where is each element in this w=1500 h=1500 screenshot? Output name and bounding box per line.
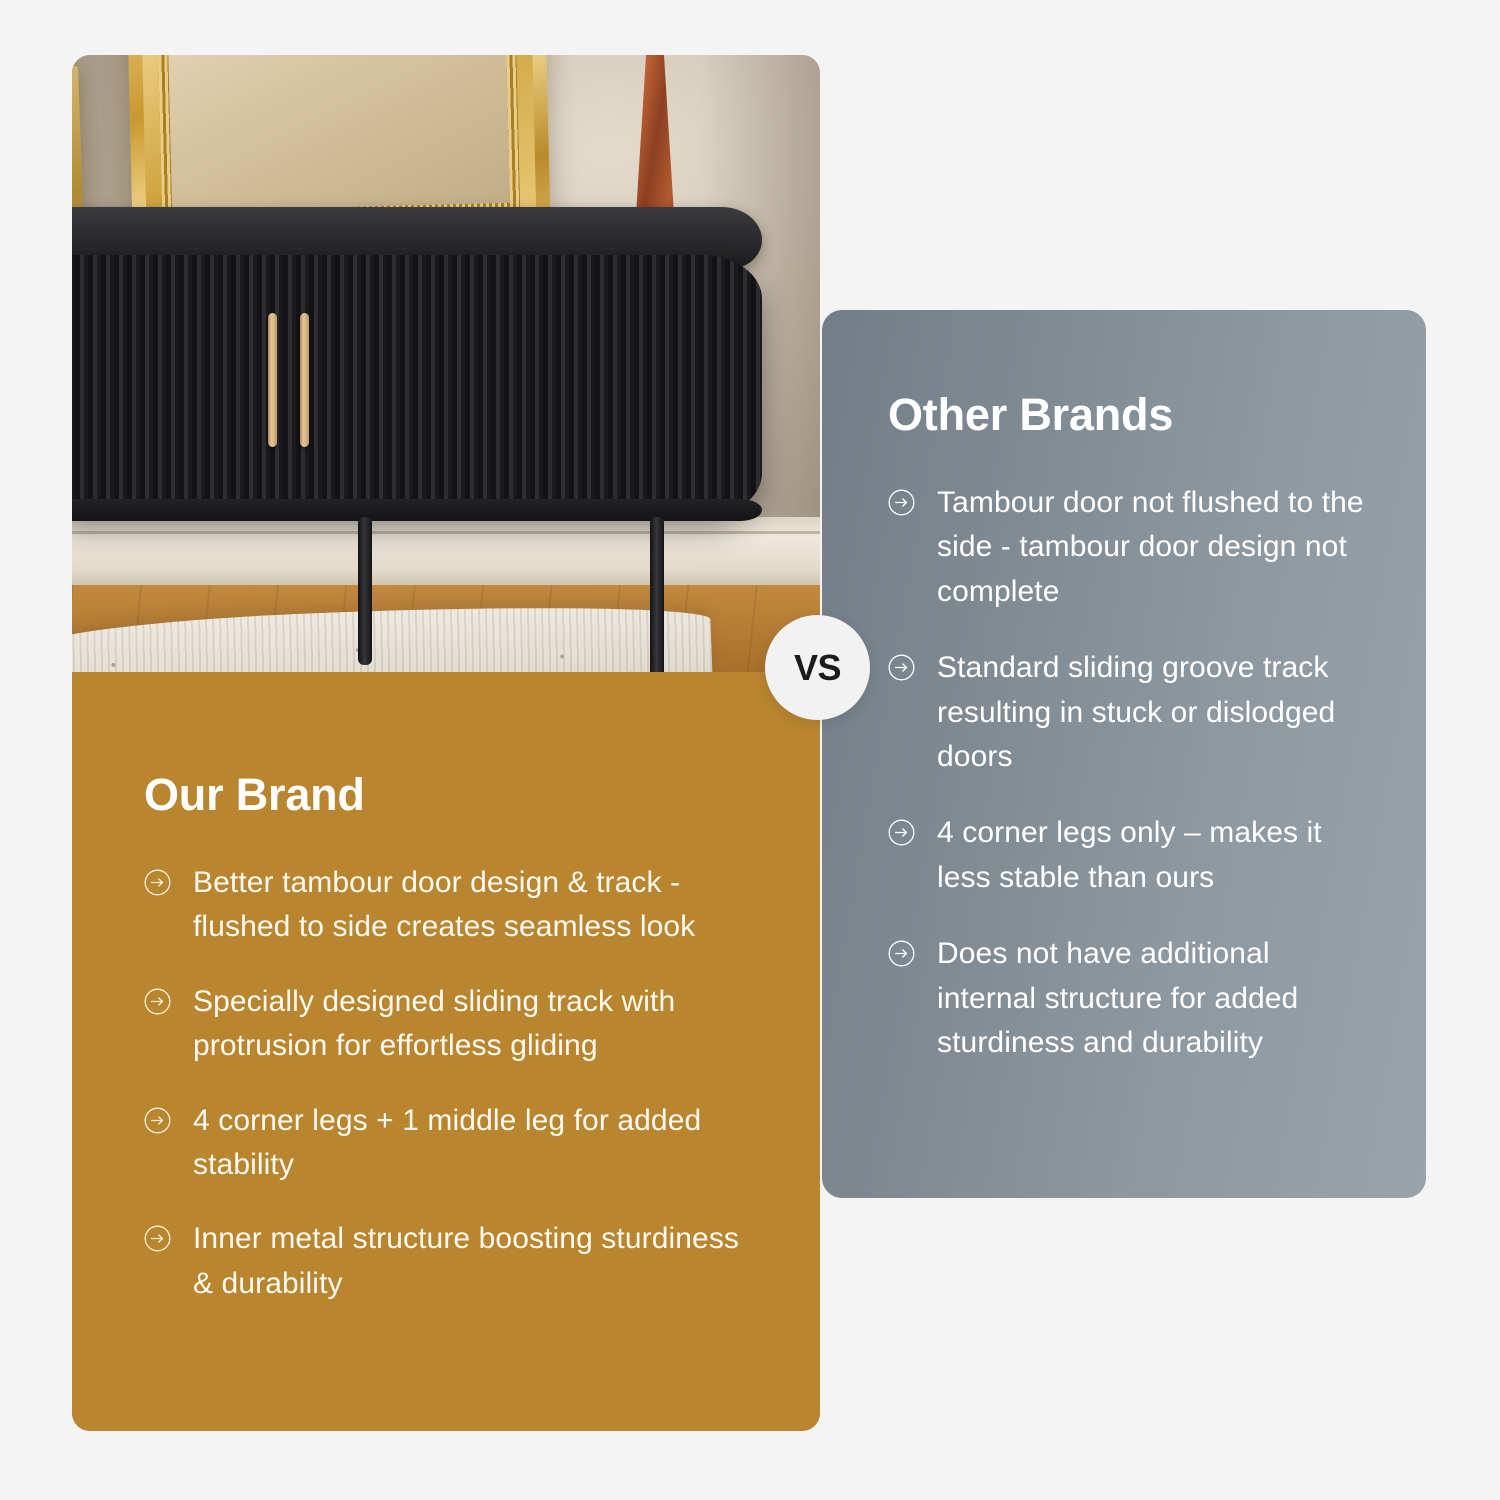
our-brand-title: Our Brand bbox=[144, 772, 758, 817]
mirror-glass bbox=[168, 55, 510, 211]
cabinet-leg-middle bbox=[358, 517, 372, 665]
list-item: Tambour door not flushed to the side - t… bbox=[888, 481, 1374, 614]
list-item: Inner metal structure boosting sturdines… bbox=[144, 1217, 758, 1306]
comparison-infographic: Our Brand Better tambour door design & t… bbox=[0, 0, 1500, 1500]
list-item-text: 4 corner legs only – makes it less stabl… bbox=[937, 811, 1374, 900]
list-item-text: Does not have additional internal struct… bbox=[937, 932, 1374, 1065]
list-item-text: Inner metal structure boosting sturdines… bbox=[193, 1217, 758, 1306]
cabinet-fluted-body bbox=[72, 255, 762, 517]
circle-arrow-right-icon bbox=[888, 489, 915, 516]
cabinet-leg-right bbox=[650, 517, 664, 672]
list-item-text: Specially designed sliding track with pr… bbox=[193, 980, 758, 1069]
circle-arrow-right-icon bbox=[888, 654, 915, 681]
circle-arrow-right-icon bbox=[888, 819, 915, 846]
list-item-text: Better tambour door design & track - flu… bbox=[193, 861, 758, 950]
baseboard bbox=[72, 517, 820, 591]
list-item: Does not have additional internal struct… bbox=[888, 932, 1374, 1065]
other-brands-list: Tambour door not flushed to the side - t… bbox=[888, 481, 1374, 1065]
our-brand-column: Our Brand Better tambour door design & t… bbox=[72, 55, 820, 1431]
list-item: 4 corner legs + 1 middle leg for added s… bbox=[144, 1099, 758, 1188]
list-item-text: Standard sliding groove track resulting … bbox=[937, 646, 1374, 779]
list-item: 4 corner legs only – makes it less stabl… bbox=[888, 811, 1374, 900]
our-brand-panel: Our Brand Better tambour door design & t… bbox=[72, 672, 820, 1431]
cabinet-handle-left bbox=[268, 313, 277, 447]
circle-arrow-right-icon bbox=[144, 1225, 171, 1252]
circle-arrow-right-icon bbox=[144, 988, 171, 1015]
list-item: Better tambour door design & track - flu… bbox=[144, 861, 758, 950]
list-item: Specially designed sliding track with pr… bbox=[144, 980, 758, 1069]
product-photo bbox=[72, 55, 820, 672]
other-brands-panel: Other Brands Tambour door not flushed to… bbox=[822, 310, 1426, 1198]
circle-arrow-right-icon bbox=[144, 869, 171, 896]
circle-arrow-right-icon bbox=[888, 940, 915, 967]
cabinet-handle-right bbox=[300, 313, 309, 447]
our-brand-list: Better tambour door design & track - flu… bbox=[144, 861, 758, 1306]
list-item-text: Tambour door not flushed to the side - t… bbox=[937, 481, 1374, 614]
list-item: Standard sliding groove track resulting … bbox=[888, 646, 1374, 779]
circle-arrow-right-icon bbox=[144, 1107, 171, 1134]
vs-label: VS bbox=[794, 647, 841, 689]
other-brands-title: Other Brands bbox=[888, 392, 1374, 437]
list-item-text: 4 corner legs + 1 middle leg for added s… bbox=[193, 1099, 758, 1188]
vs-badge: VS bbox=[765, 615, 870, 720]
